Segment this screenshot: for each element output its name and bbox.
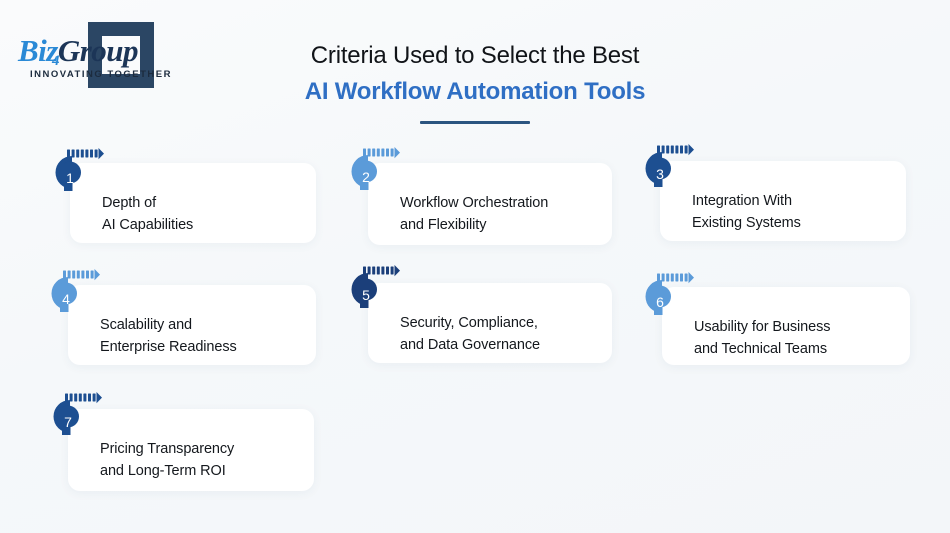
criteria-step-badge-1: 1: [42, 146, 104, 206]
criteria-card-4[interactable]: Scalability and Enterprise Readiness: [68, 285, 316, 365]
criteria-card-label: Pricing Transparency and Long-Term ROI: [100, 439, 304, 483]
criteria-step-badge-3: 3: [632, 142, 694, 202]
page-title-line-1: Criteria Used to Select the Best: [0, 40, 950, 71]
infographic-page: BizGroup 4 INNOVATING TOGETHER Criteria …: [0, 0, 950, 533]
criteria-card-label: Scalability and Enterprise Readiness: [100, 315, 306, 359]
criteria-step-badge-2: 2: [338, 145, 400, 205]
criteria-card-label: Workflow Orchestration and Flexibility: [400, 193, 602, 237]
title-underline-rule: [420, 121, 530, 124]
criteria-card-1[interactable]: Depth of AI Capabilities: [70, 163, 316, 243]
criteria-card-label: Integration With Existing Systems: [692, 191, 896, 235]
criteria-card-7[interactable]: Pricing Transparency and Long-Term ROI: [68, 409, 314, 491]
criteria-card-label: Usability for Business and Technical Tea…: [694, 317, 900, 361]
page-title-line-2: AI Workflow Automation Tools: [0, 76, 950, 107]
criteria-step-badge-5: 5: [338, 263, 400, 323]
criteria-step-badge-4: 4: [38, 267, 100, 327]
criteria-step-badge-7: 7: [40, 390, 102, 450]
criteria-card-label: Depth of AI Capabilities: [102, 193, 306, 237]
criteria-card-6[interactable]: Usability for Business and Technical Tea…: [662, 287, 910, 365]
criteria-card-label: Security, Compliance, and Data Governanc…: [400, 313, 602, 357]
criteria-card-3[interactable]: Integration With Existing Systems: [660, 161, 906, 241]
criteria-step-badge-6: 6: [632, 270, 694, 330]
criteria-card-2[interactable]: Workflow Orchestration and Flexibility: [368, 163, 612, 245]
page-title: Criteria Used to Select the Best AI Work…: [0, 40, 950, 124]
criteria-card-5[interactable]: Security, Compliance, and Data Governanc…: [368, 283, 612, 363]
